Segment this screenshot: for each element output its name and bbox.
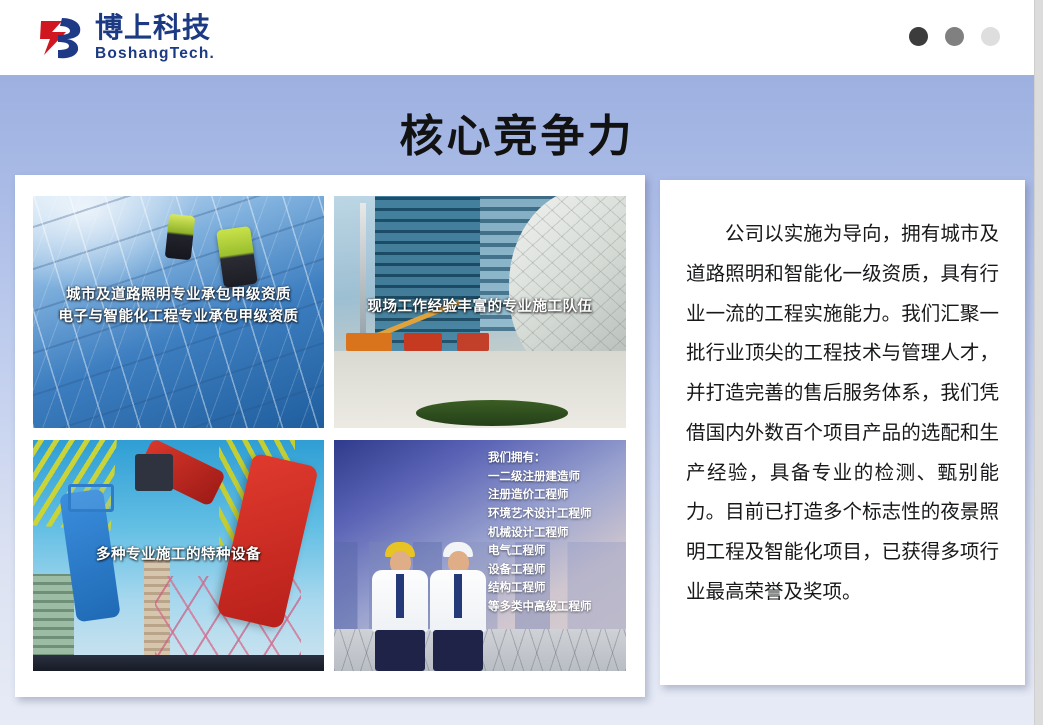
slide-page: 博上科技 BoshangTech. 核心竞争力 城市及道路	[0, 0, 1043, 725]
qualification-item: 注册造价工程师	[488, 485, 620, 504]
boshang-b-logo-icon	[38, 15, 86, 61]
lift-basket-decoration	[135, 454, 173, 491]
ground-decoration	[33, 655, 324, 671]
building-left-decoration	[33, 574, 74, 657]
description-card: 公司以实施为导向，拥有城市及道路照明和智能化一级资质，具有行业一流的工程实施能力…	[660, 180, 1025, 685]
qualification-item: 电气工程师	[488, 541, 620, 560]
blue-lift-basket-decoration	[68, 484, 115, 512]
worker-figure-2-decoration	[165, 213, 195, 259]
tile-special-equipment-caption: 多种专业施工的特种设备	[33, 544, 324, 566]
logo-english-name: BoshangTech.	[95, 46, 215, 62]
qualification-item: 设备工程师	[488, 560, 620, 579]
engineer-trousers	[433, 630, 483, 671]
lawn-decoration	[416, 400, 568, 426]
tile-construction-site-caption: 现场工作经验丰富的专业施工队伍	[334, 296, 626, 318]
pagination-dot-3[interactable]	[981, 27, 1000, 46]
pagination-dot-1[interactable]	[909, 27, 928, 46]
pagination-dot-2[interactable]	[945, 27, 964, 46]
engineer-figure-white-helmet	[427, 542, 489, 671]
qualification-item: 结构工程师	[488, 578, 620, 597]
qualification-item: 环境艺术设计工程师	[488, 504, 620, 523]
logo-wordmark: 博上科技 BoshangTech.	[95, 14, 215, 62]
lift-vehicle-b-decoration	[404, 333, 442, 352]
qualification-heading: 我们拥有：	[488, 448, 620, 467]
caption-line-1: 城市及道路照明专业承包甲级资质	[33, 284, 324, 306]
tile-construction-site[interactable]: 现场工作经验丰富的专业施工队伍	[334, 196, 626, 428]
caption-line-1: 多种专业施工的特种设备	[33, 544, 324, 566]
qualification-list: 我们拥有： 一二级注册建造师 注册造价工程师 环境艺术设计工程师 机械设计工程师…	[488, 448, 620, 616]
page-header: 博上科技 BoshangTech.	[0, 0, 1034, 75]
tile-engineers[interactable]: 我们拥有： 一二级注册建造师 注册造价工程师 环境艺术设计工程师 机械设计工程师…	[334, 440, 626, 671]
slide-body: 核心竞争力 城市及道路照明专业承包甲级资质 电子与智能化工程专业承包甲级资质	[0, 75, 1034, 725]
qualification-item: 一二级注册建造师	[488, 467, 620, 486]
company-logo[interactable]: 博上科技 BoshangTech.	[38, 14, 215, 62]
qualification-item: 等多类中高级工程师	[488, 597, 620, 616]
engineer-figure-yellow-helmet	[369, 542, 431, 671]
engineer-tie	[454, 574, 462, 618]
tile-glass-facade-caption: 城市及道路照明专业承包甲级资质 电子与智能化工程专业承包甲级资质	[33, 284, 324, 329]
engineer-trousers	[375, 630, 425, 671]
caption-line-2: 电子与智能化工程专业承包甲级资质	[33, 306, 324, 328]
tile-special-equipment[interactable]: 多种专业施工的特种设备	[33, 440, 324, 671]
page-edge-strip	[1034, 0, 1043, 725]
pagination-dots[interactable]	[909, 27, 1000, 46]
image-collage: 城市及道路照明专业承包甲级资质 电子与智能化工程专业承包甲级资质	[33, 196, 626, 671]
lift-vehicle-c-decoration	[457, 333, 489, 352]
page-title: 核心竞争力	[0, 100, 1034, 164]
engineer-tie	[396, 574, 404, 618]
logo-chinese-name: 博上科技	[95, 14, 215, 42]
tile-glass-facade[interactable]: 城市及道路照明专业承包甲级资质 电子与智能化工程专业承包甲级资质	[33, 196, 324, 428]
image-collage-card: 城市及道路照明专业承包甲级资质 电子与智能化工程专业承包甲级资质	[15, 175, 645, 697]
qualification-item: 机械设计工程师	[488, 523, 620, 542]
lift-vehicle-a-decoration	[346, 333, 393, 352]
description-paragraph: 公司以实施为导向，拥有城市及道路照明和智能化一级资质，具有行业一流的工程实施能力…	[686, 214, 999, 612]
caption-line-1: 现场工作经验丰富的专业施工队伍	[334, 296, 626, 318]
